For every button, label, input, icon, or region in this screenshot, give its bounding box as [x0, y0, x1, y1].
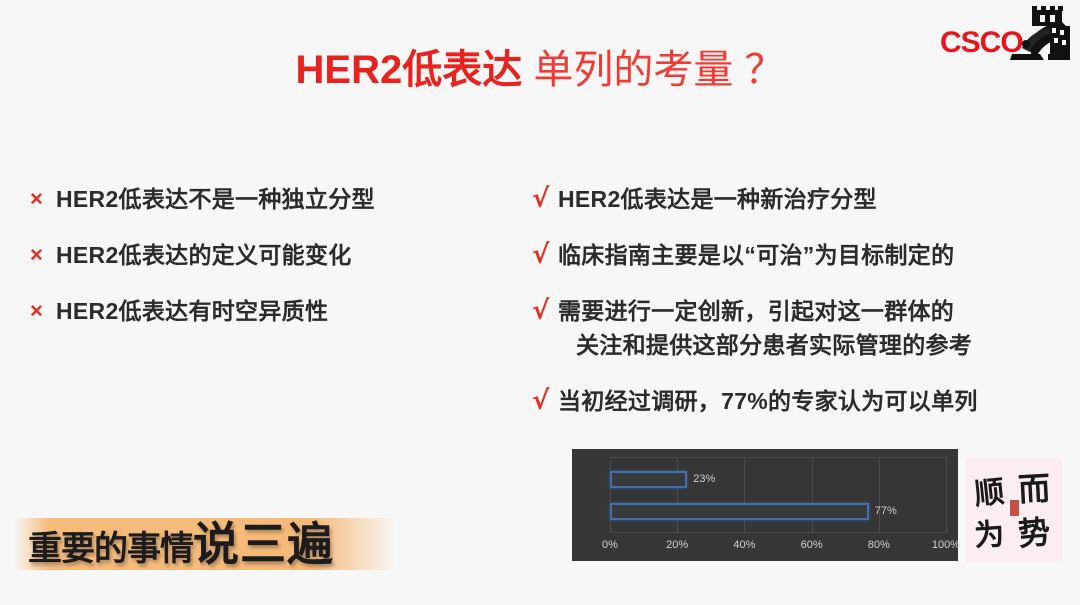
right-bullet-column: √ HER2低表达是一种新治疗分型 √ 临床指南主要是以“可治”为目标制定的 √… [532, 182, 1062, 440]
calligraphy-char: 为 [973, 509, 1006, 555]
list-item-label: HER2低表达有时空异质性 [56, 294, 328, 328]
check-icon: √ [532, 182, 558, 216]
check-icon: √ [532, 294, 558, 328]
chart-plot-area: 23% 77% [610, 457, 946, 533]
chart-x-axis: 0% 20% 40% 60% 80% 100% [610, 539, 946, 555]
calligraphy-char: 势 [1016, 507, 1052, 556]
chart-bar-label: 23% [693, 471, 715, 488]
cross-icon: × [30, 182, 56, 216]
list-item-label: 临床指南主要是以“可治”为目标制定的 [558, 238, 954, 272]
chart-xtick: 20% [666, 539, 688, 551]
chart-gridline [610, 532, 946, 533]
slide-canvas: CSCO [0, 0, 1080, 605]
chart-xtick: 80% [868, 539, 890, 551]
list-item-line2: 关注和提供这部分患者实际管理的参考 [558, 328, 972, 362]
banner-text-small: 重要的事情 [28, 529, 193, 569]
cross-icon: × [30, 238, 56, 272]
list-item-label: HER2低表达是一种新治疗分型 [558, 182, 877, 216]
list-item: × HER2低表达的定义可能变化 [30, 238, 500, 272]
list-item: × HER2低表达不是一种独立分型 [30, 182, 500, 216]
survey-bar-chart: 23% 77% 0% 20% 40% 60% 80% 100% [572, 449, 958, 561]
title-light: 单列的考量 ？ [522, 48, 784, 92]
chart-bar [610, 503, 869, 520]
chart-gridline [610, 457, 611, 533]
chart-gridline [946, 457, 947, 533]
list-item-label: 需要进行一定创新，引起对这一群体的 关注和提供这部分患者实际管理的参考 [558, 294, 972, 362]
list-item-label: HER2低表达的定义可能变化 [56, 238, 352, 272]
chart-xtick: 0% [602, 539, 618, 551]
list-item: √ 需要进行一定创新，引起对这一群体的 关注和提供这部分患者实际管理的参考 [532, 294, 1062, 362]
left-bullet-column: × HER2低表达不是一种独立分型 × HER2低表达的定义可能变化 × HER… [30, 182, 500, 350]
chart-xtick: 40% [733, 539, 755, 551]
calligraphy-char: 而 [1017, 463, 1051, 511]
list-item-label: 当初经过调研，77%的专家认为可以单列 [558, 384, 978, 418]
banner-text: 重要的事情说三遍 [28, 508, 408, 580]
banner-text-big: 说三遍 [193, 517, 334, 571]
calligraphy-image: 而 顺 为 势 [966, 458, 1062, 562]
cross-icon: × [30, 294, 56, 328]
list-item-label: HER2低表达不是一种独立分型 [56, 182, 375, 216]
list-item: √ 当初经过调研，77%的专家认为可以单列 [532, 384, 1062, 418]
chart-gridline [812, 457, 813, 533]
title-strong: HER2低表达 [296, 48, 523, 92]
chart-gridline [879, 457, 880, 533]
check-icon: √ [532, 238, 558, 272]
chart-bar [610, 471, 687, 488]
chart-bar-label: 77% [875, 503, 897, 520]
list-item: × HER2低表达有时空异质性 [30, 294, 500, 328]
seal-icon [1010, 500, 1019, 516]
chart-gridline [610, 457, 946, 458]
list-item-line1: 需要进行一定创新，引起对这一群体的 [558, 298, 954, 324]
check-icon: √ [532, 384, 558, 418]
chart-xtick: 60% [801, 539, 823, 551]
chart-gridline [677, 457, 678, 533]
list-item: √ HER2低表达是一种新治疗分型 [532, 182, 1062, 216]
slide-title: HER2低表达 单列的考量 ？ [0, 44, 1080, 96]
chart-gridline [744, 457, 745, 533]
chart-xtick: 100% [932, 539, 960, 551]
list-item: √ 临床指南主要是以“可治”为目标制定的 [532, 238, 1062, 272]
calligraphy-char: 顺 [972, 467, 1006, 514]
